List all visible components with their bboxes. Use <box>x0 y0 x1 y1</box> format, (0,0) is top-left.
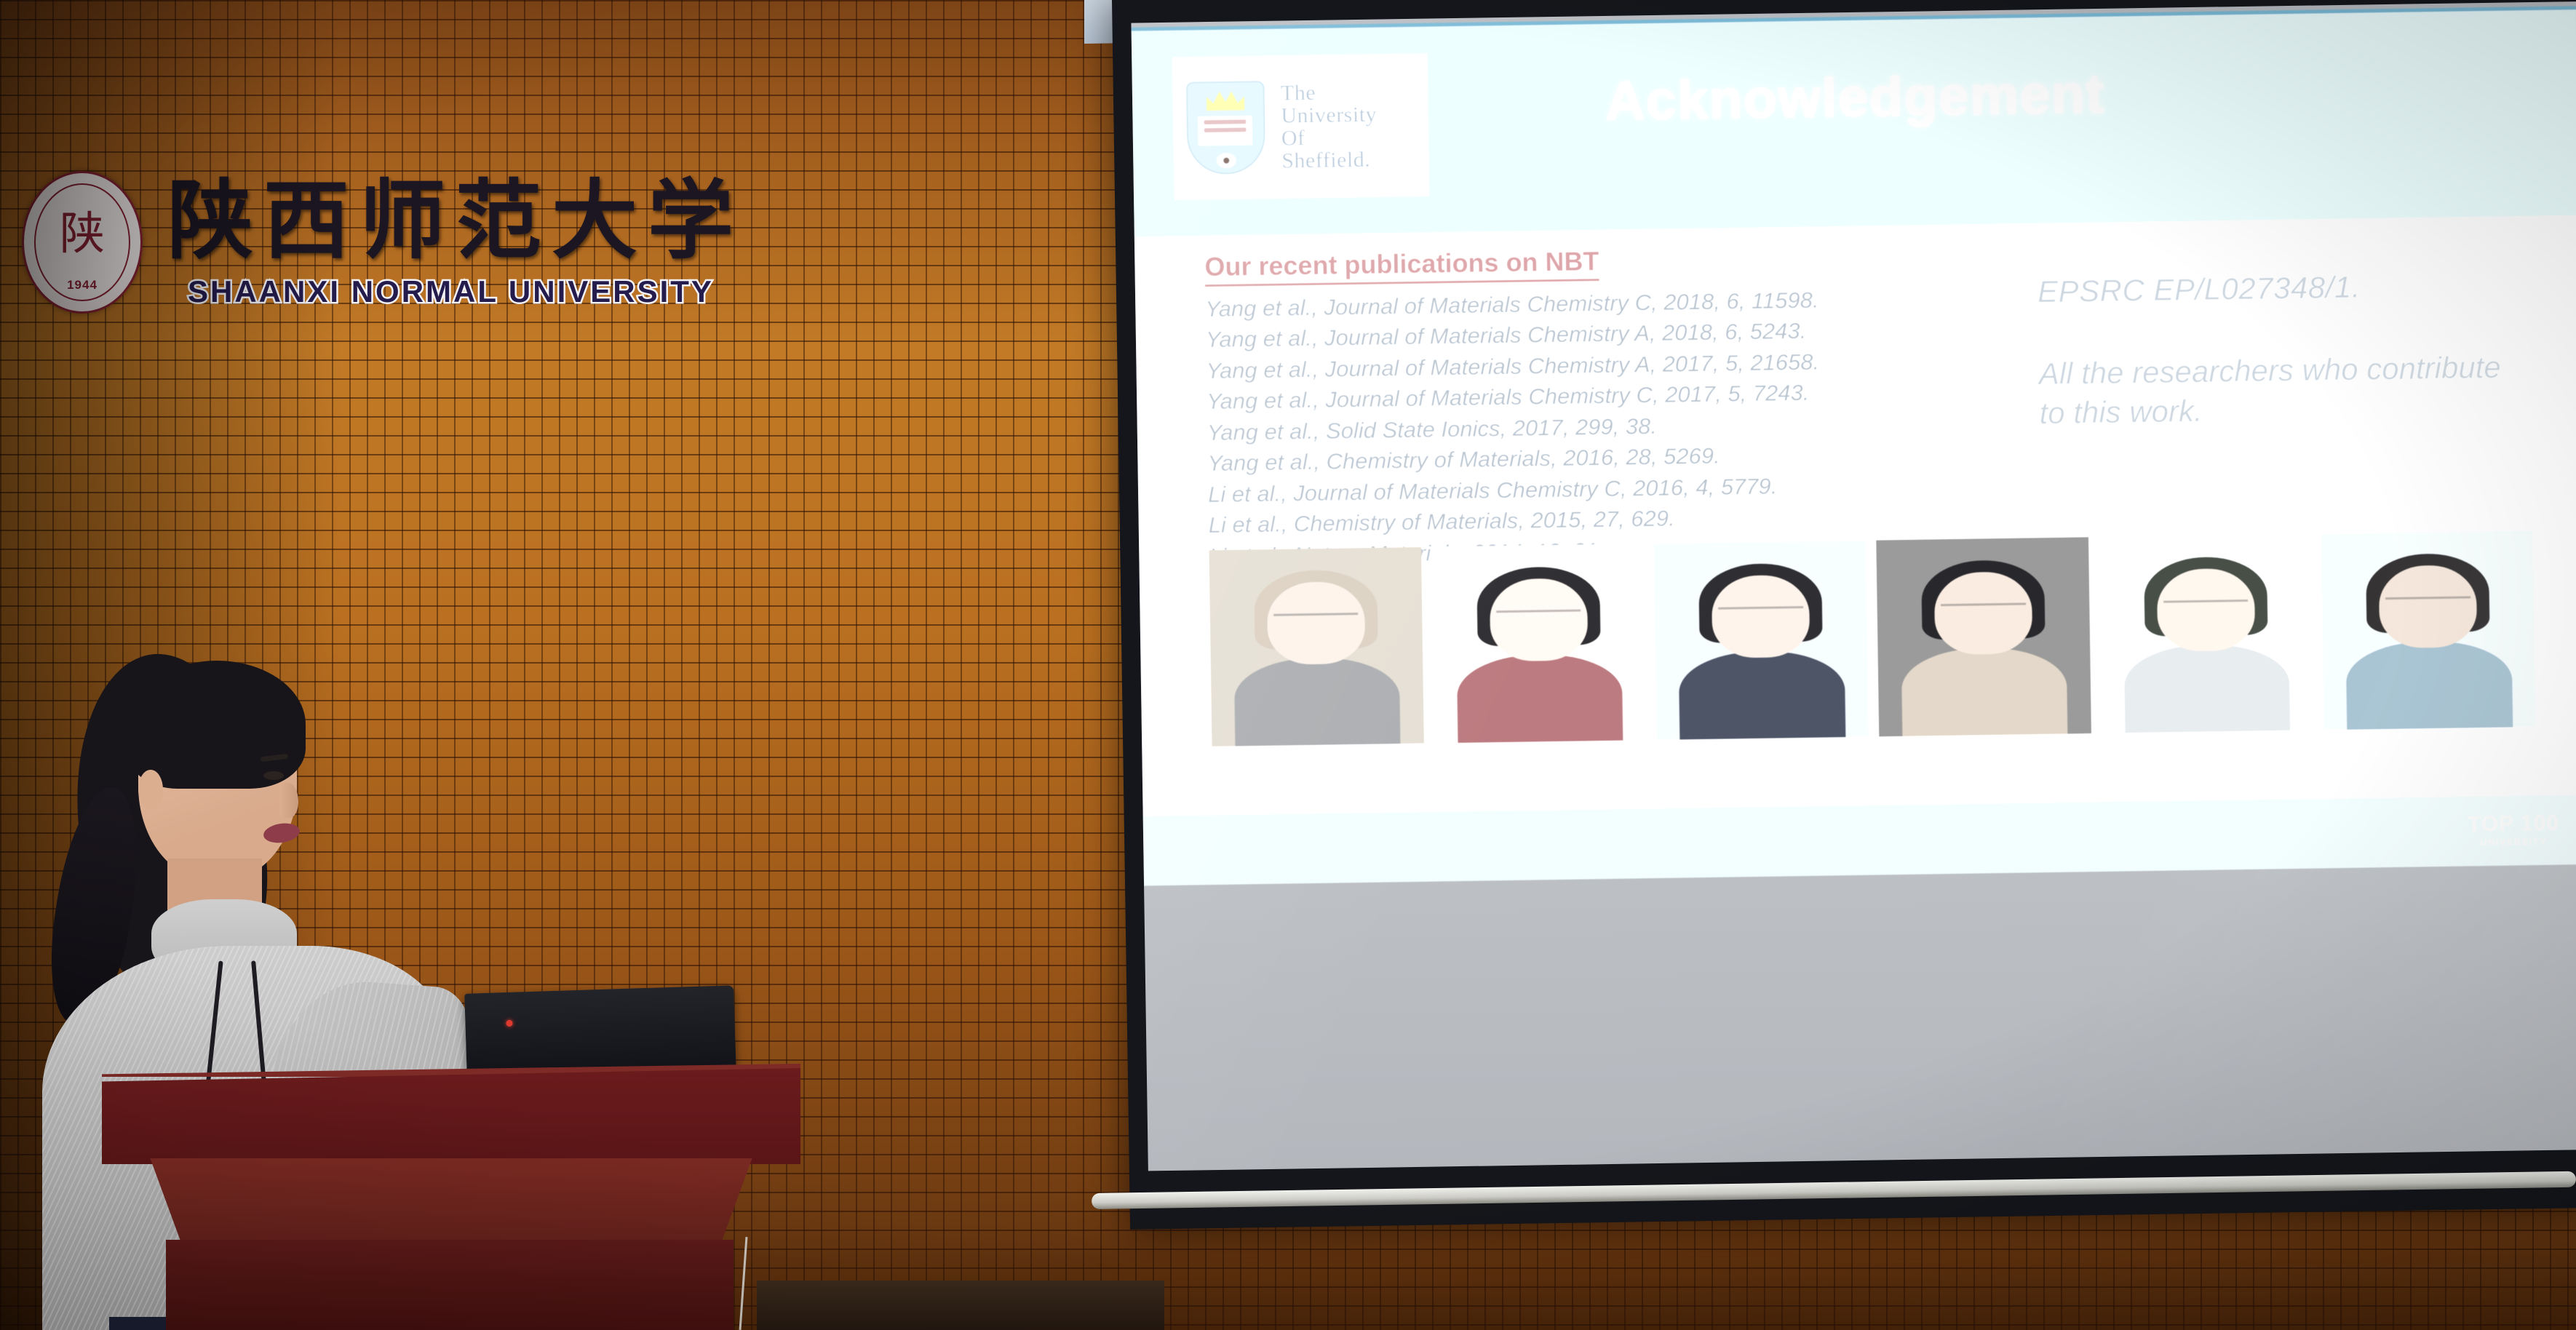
researcher-portrait-6 <box>2321 530 2536 730</box>
university-name-chinese: 陕西师范大学 <box>167 151 744 275</box>
rose-icon <box>1216 152 1236 168</box>
podium-body <box>131 1158 771 1246</box>
publications-heading: Our recent publications on NBT <box>1204 246 1599 287</box>
researcher-portrait-3 <box>1654 541 1869 740</box>
presentation-slide: The University Of Sheffield. Acknowledge… <box>1132 6 2576 885</box>
university-wall-sign: 陕 1944 陕西师范大学 SHAANXI NORMAL UNIVERSITY <box>22 164 837 320</box>
publications-list: Yang et al., Journal of Materials Chemis… <box>1205 283 1952 572</box>
thanks-note: All the researchers who contribute to th… <box>2038 348 2505 433</box>
grant-number: EPSRC EP/L027348/1. <box>2038 268 2504 309</box>
emblem-year: 1944 <box>67 278 98 292</box>
screen-surface: The University Of Sheffield. Acknowledge… <box>1131 1 2576 1171</box>
nose <box>279 783 298 818</box>
slide-body: Our recent publications on NBT Yang et a… <box>1134 215 2576 885</box>
university-name-english: SHAANXI NORMAL UNIVERSITY <box>188 274 714 309</box>
researcher-portrait-1 <box>1209 547 1424 746</box>
badge-line-1: TOP 100 <box>2468 813 2559 836</box>
ear <box>138 770 163 809</box>
podium-top <box>102 1068 800 1164</box>
eye <box>263 771 284 780</box>
badge-line-2: UNIVERSITY <box>2468 837 2559 848</box>
podium-base <box>166 1240 734 1330</box>
logo-line-4: Sheffield. <box>1281 148 1378 172</box>
university-emblem-icon: 陕 1944 <box>22 171 143 314</box>
publications-block: Our recent publications on NBT Yang et a… <box>1204 241 1951 572</box>
stage-floor <box>757 1281 1164 1330</box>
lecture-hall-scene: 陕 1944 陕西师范大学 SHAANXI NORMAL UNIVERSITY <box>0 0 2576 1330</box>
researcher-portrait-2 <box>1431 543 1647 743</box>
top100-badge: TOP 100 UNIVERSITY <box>2468 813 2560 848</box>
researcher-portrait-4 <box>1876 537 2091 736</box>
power-led-icon <box>506 1020 512 1027</box>
researcher-photo-strip <box>1209 530 2536 746</box>
slide-header: The University Of Sheffield. Acknowledge… <box>1132 6 2576 236</box>
funding-block: EPSRC EP/L027348/1. All the researchers … <box>2038 268 2505 433</box>
projection-screen: The University Of Sheffield. Acknowledge… <box>1112 0 2576 1230</box>
emblem-glyph: 陕 <box>60 212 105 257</box>
slide-footer: TOP 100 UNIVERSITY <box>1143 795 2576 885</box>
researcher-portrait-5 <box>2099 534 2314 733</box>
